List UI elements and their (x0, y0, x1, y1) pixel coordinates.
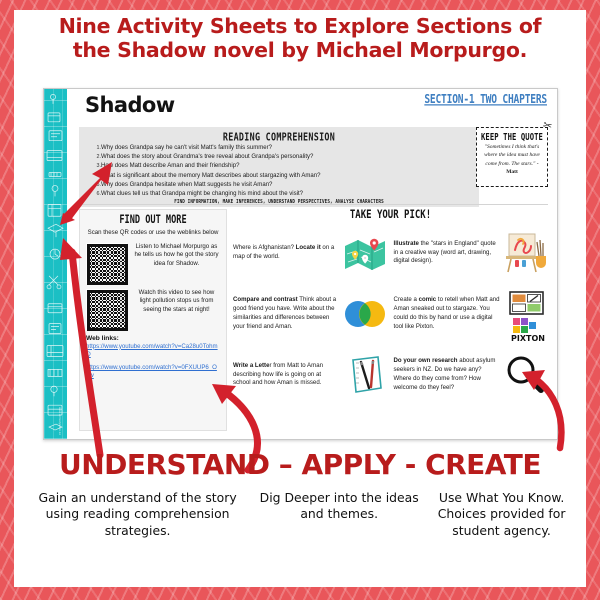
find-out-more-item: Listen to Michael Morpurgo as he tells u… (86, 243, 220, 284)
caption-apply: Dig Deeper into the ideas and themes. (255, 490, 423, 523)
bottom-captions: Gain an understand of the story using re… (20, 490, 580, 539)
activity-bold: Write a Lette (233, 362, 269, 369)
question-text: What does the story about Grandma's tree… (101, 154, 313, 160)
magnifying-glass-icon (502, 352, 548, 398)
activity-text: Do your own research about asylum seeker… (394, 357, 498, 392)
weblink-2[interactable]: https://www.youtube.com/watch?v=0FXUUP6_… (86, 364, 220, 381)
weblink-1[interactable]: https://www.youtube.com/watch?v=Ca28u0To… (86, 343, 220, 360)
svg-text:PIXTON: PIXTON (511, 334, 545, 343)
activity-text-before: Create a (394, 296, 419, 303)
activity-card-comic[interactable]: Create a comic to retell when Matt and A… (394, 288, 549, 340)
venn-diagram-icon (342, 291, 388, 337)
comic-panels-icon: PIXTON (508, 291, 548, 343)
find-out-more-panel: FIND OUT MORE Scan these QR codes or use… (79, 209, 227, 431)
qr-code-icon[interactable] (86, 289, 127, 330)
find-out-more-subtitle: Scan these QR codes or use the weblinks … (86, 229, 220, 238)
question-item: 2.What does the story about Grandma's tr… (85, 153, 473, 162)
question-item: 4.What is significant about the memory M… (85, 172, 473, 181)
poster-title: Nine Activity Sheets to Explore Sections… (18, 14, 582, 62)
strip-credit-text: www.activelylearn.nz (58, 407, 61, 435)
section-divider (79, 204, 548, 205)
find-out-more-heading: FIND OUT MORE (86, 214, 220, 227)
caption-understand: Gain an understand of the story using re… (20, 490, 255, 539)
poster-title-line1: Nine Activity Sheets to Explore Sections… (18, 14, 582, 38)
worksheet-body: Shadow SECTION-1 TWO CHAPTERS READING CO… (67, 89, 557, 439)
activity-card-research[interactable]: Do your own research about asylum seeker… (394, 349, 549, 401)
scissors-icon: ✂ (542, 118, 554, 133)
poster-page: Nine Activity Sheets to Explore Sections… (0, 0, 600, 600)
easel-palette-icon (502, 230, 548, 276)
teal-doodle-strip: www.activelylearn.nz (44, 89, 67, 439)
reading-comprehension-block: READING COMPREHENSION 1.Why does Grandpa… (79, 127, 479, 207)
question-text: Why does Grandpa hesitate when Matt sugg… (101, 182, 272, 188)
question-text: What clues tell us that Grandpa might be… (101, 191, 303, 197)
activity-bold: Illustrate (394, 240, 419, 247)
activity-card-letter[interactable]: Write a Letter from Matt to Aman describ… (233, 349, 388, 401)
activity-card-locate[interactable]: Where is Afghanistan? Locate it on a map… (233, 227, 388, 279)
question-number: 6. (89, 190, 101, 198)
take-your-pick-heading: TAKE YOUR PICK! (233, 209, 548, 222)
activity-card-illustrate[interactable]: Illustrate the "stars in England" quote … (394, 227, 549, 279)
question-number: 5. (89, 181, 101, 189)
section-tag-link[interactable]: SECTION-1 TWO CHAPTERS (424, 93, 547, 107)
qr-code-icon[interactable] (86, 243, 127, 284)
quote-body: "Sometimes I think that's where the idea… (484, 144, 540, 167)
take-your-pick-grid: Where is Afghanistan? Locate it on a map… (233, 227, 548, 401)
poster-title-line2: the Shadow novel by Michael Morpurgo. (18, 38, 582, 62)
activity-bold: Do your own research (394, 357, 458, 364)
worksheet-title: Shadow (85, 93, 175, 117)
activity-bold: Compare and contrast (233, 296, 298, 303)
activity-text: Where is Afghanistan? Locate it on a map… (233, 244, 337, 262)
school-supplies-doodle-icon (44, 89, 67, 439)
activity-text: Illustrate the "stars in England" quote … (394, 240, 498, 266)
activity-bold: comic (419, 296, 437, 303)
question-item: 3.How does Matt describe Aman and their … (85, 162, 473, 171)
question-number: 3. (89, 162, 101, 170)
activity-text: Create a comic to retell when Matt and A… (394, 296, 504, 331)
question-item: 1.Why does Grandpa say he can't visit Ma… (85, 144, 473, 153)
question-text: Why does Grandpa say he can't visit Matt… (101, 145, 272, 151)
reading-comprehension-question-list: 1.Why does Grandpa say he can't visit Ma… (85, 144, 473, 199)
keep-the-quote-heading: KEEP THE QUOTE (481, 131, 543, 143)
activity-bold: Locate it (296, 244, 321, 251)
question-number: 2. (89, 153, 101, 161)
worksheet-card: www.activelylearn.nz Shadow SECTION-1 TW… (43, 88, 558, 440)
question-number: 1. (89, 144, 101, 152)
weblinks-label: Web links: (86, 335, 220, 342)
folded-map-icon (342, 230, 388, 276)
comic-panels-icon-group: PIXTON (508, 291, 548, 337)
understand-apply-create-banner: UNDERSTAND – APPLY - CREATE (0, 448, 600, 481)
keep-the-quote-box: ✂ KEEP THE QUOTE "Sometimes I think that… (476, 127, 548, 187)
activity-text: Write a Letter from Matt to Aman describ… (233, 362, 337, 388)
activity-card-compare[interactable]: Compare and contrast Think about a good … (233, 288, 388, 340)
question-text: What is significant about the memory Mat… (101, 173, 320, 179)
caption-create: Use What You Know. Choices provided for … (423, 490, 580, 539)
reading-comprehension-heading: READING COMPREHENSION (85, 130, 473, 143)
question-item: 5.Why does Grandpa hesitate when Matt su… (85, 181, 473, 190)
notebook-pencil-icon (342, 352, 388, 398)
pixton-logo-icon (513, 318, 536, 333)
find-out-more-item-text: Listen to Michael Morpurgo as he tells u… (133, 243, 220, 269)
take-your-pick-panel: TAKE YOUR PICK! Where is Afghanistan? Lo… (233, 209, 548, 429)
activity-text: Compare and contrast Think about a good … (233, 296, 337, 331)
find-out-more-item-text: Watch this video to see how light pollut… (133, 289, 220, 315)
keep-the-quote-text: "Sometimes I think that's where the idea… (481, 143, 543, 176)
question-text: How does Matt describe Aman and their fr… (101, 163, 239, 169)
question-number: 4. (89, 172, 101, 180)
question-item: 6.What clues tell us that Grandpa might … (85, 190, 473, 199)
find-out-more-item: Watch this video to see how light pollut… (86, 289, 220, 330)
activity-text-before: Where is Afghanistan? (233, 244, 296, 251)
